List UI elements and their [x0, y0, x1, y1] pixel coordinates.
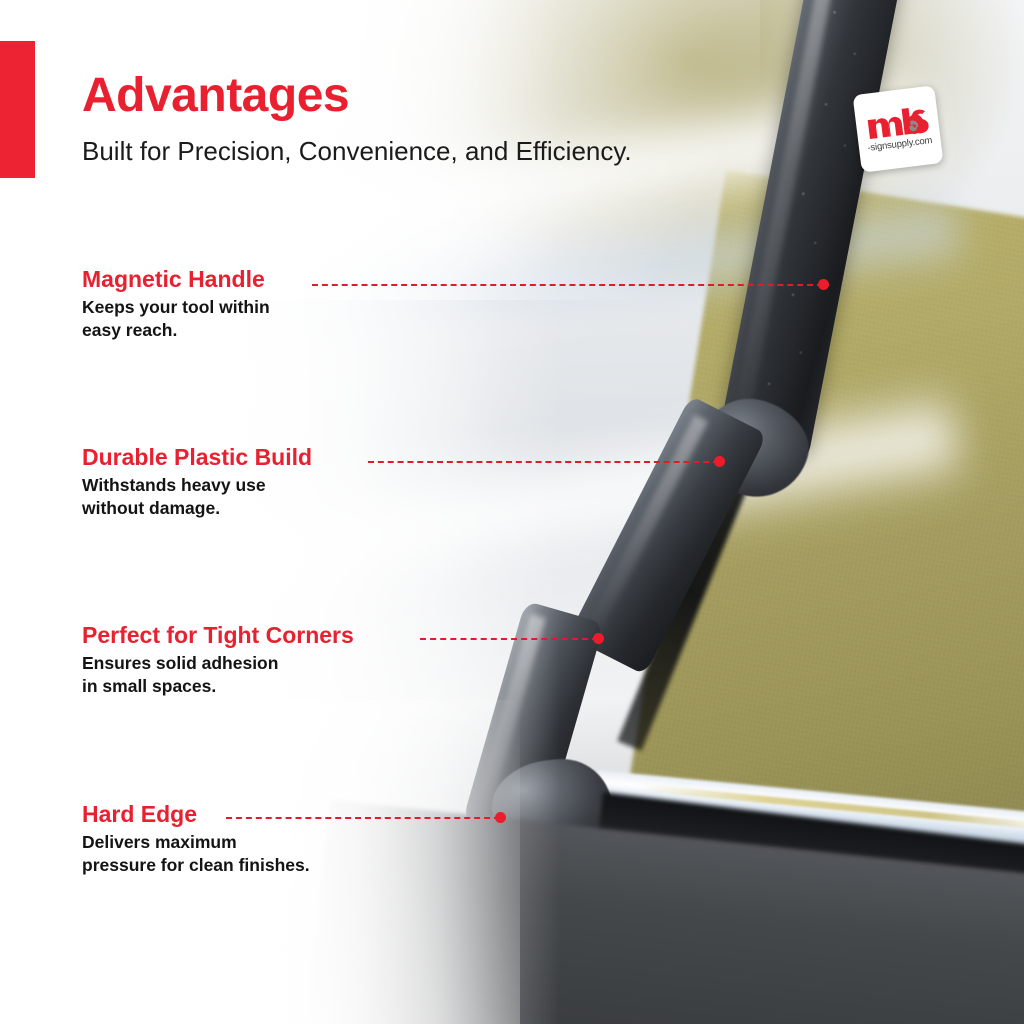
leader-line-hard-edge	[226, 817, 500, 819]
callout-title: Magnetic Handle	[82, 268, 270, 291]
leader-line-magnetic-handle	[312, 284, 823, 286]
page-title: Advantages	[82, 72, 349, 120]
leader-dot-magnetic-handle	[818, 279, 829, 290]
leader-dot-hard-edge	[495, 812, 506, 823]
leader-line-durable-plastic-build	[368, 461, 719, 463]
callout-perfect-for-tight-corners: Perfect for Tight Corners Ensures solid …	[82, 624, 354, 698]
callout-title: Hard Edge	[82, 803, 310, 826]
leader-dot-perfect-for-tight-corners	[593, 633, 604, 644]
brand-logo-inner: -signsupply.com	[853, 85, 944, 172]
advantages-infographic: Advantages Built for Precision, Convenie…	[0, 0, 1024, 1024]
callout-description: Withstands heavy use without damage.	[82, 474, 312, 520]
header-accent-bar	[0, 41, 35, 178]
page-subtitle: Built for Precision, Convenience, and Ef…	[82, 137, 632, 166]
callout-description: Keeps your tool within easy reach.	[82, 296, 270, 342]
leader-line-perfect-for-tight-corners	[420, 638, 598, 640]
brand-logo[interactable]: -signsupply.com	[853, 85, 944, 172]
callout-magnetic-handle: Magnetic Handle Keeps your tool within e…	[82, 268, 270, 342]
callout-title: Durable Plastic Build	[82, 446, 312, 469]
callout-durable-plastic-build: Durable Plastic Build Withstands heavy u…	[82, 446, 312, 520]
callout-hard-edge: Hard Edge Delivers maximum pressure for …	[82, 803, 310, 877]
leader-dot-durable-plastic-build	[714, 456, 725, 467]
callout-description: Delivers maximum pressure for clean fini…	[82, 831, 310, 877]
callout-title: Perfect for Tight Corners	[82, 624, 354, 647]
callout-description: Ensures solid adhesion in small spaces.	[82, 652, 354, 698]
